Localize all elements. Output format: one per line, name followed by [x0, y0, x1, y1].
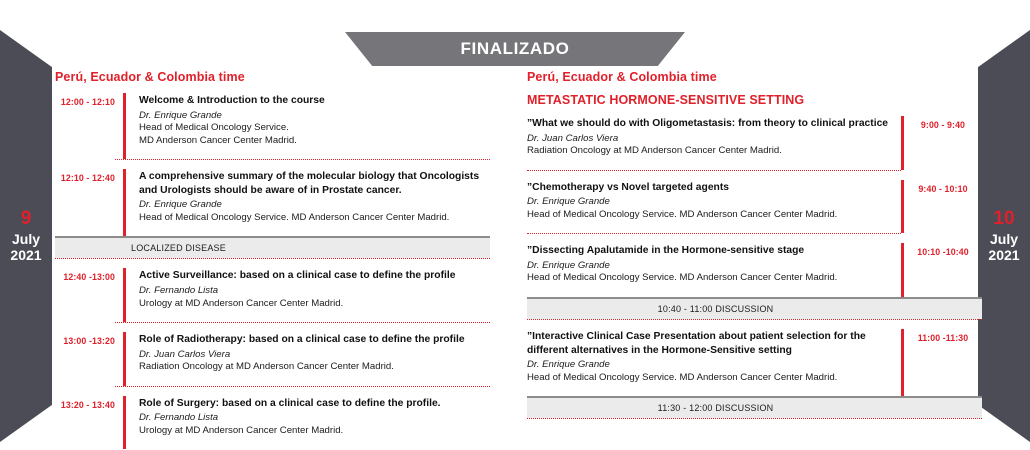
session-speaker: Dr. Enrique Grande [527, 359, 889, 371]
date-month: July [990, 231, 1018, 248]
session-rule [123, 396, 126, 450]
session-title: A comprehensive summary of the molecular… [139, 170, 490, 197]
session-affiliation: Radiation Oncology at MD Anderson Cancer… [139, 361, 490, 373]
session-body: ”What we should do with Oligometastasis:… [527, 116, 889, 170]
date-day: 9 [21, 208, 32, 230]
session-body: Welcome & Introduction to the course Dr.… [139, 93, 490, 159]
session-body: ”Dissecting Apalutamide in the Hormone-s… [527, 243, 889, 297]
session-row: ”Interactive Clinical Case Presentation … [527, 320, 982, 396]
session-title: ”Dissecting Apalutamide in the Hormone-s… [527, 244, 889, 258]
session-time: 12:40 -13:00 [55, 268, 123, 322]
session-speaker: Dr. Fernando Lista [139, 412, 490, 424]
session-row: 12:00 - 12:10 Welcome & Introduction to … [55, 93, 490, 159]
date-year: 2021 [988, 247, 1019, 264]
session-time: 9:40 - 10:10 [904, 180, 982, 234]
date-year: 2021 [10, 247, 41, 264]
agenda-column-day-9: Perú, Ecuador & Colombia time 12:00 - 12… [55, 70, 490, 449]
session-title: ”Interactive Clinical Case Presentation … [527, 330, 889, 357]
session-affiliation: MD Anderson Cancer Center Madrid. [139, 135, 490, 147]
session-row: ”What we should do with Oligometastasis:… [527, 116, 982, 170]
session-rule [123, 169, 126, 236]
session-row: 13:00 -13:20 Role of Radiotherapy: based… [55, 323, 490, 386]
session-title: Welcome & Introduction to the course [139, 94, 490, 108]
session-time: 12:10 - 12:40 [55, 169, 123, 236]
session-row: 12:10 - 12:40 A comprehensive summary of… [55, 160, 490, 236]
session-title: Active Surveillance: based on a clinical… [139, 269, 490, 283]
session-rule [123, 268, 126, 322]
session-speaker: Dr. Juan Carlos Viera [527, 133, 889, 145]
discussion-band-label: 10:40 - 11:00 DISCUSSION [527, 304, 982, 314]
session-affiliation: Urology at MD Anderson Cancer Center Mad… [139, 298, 490, 310]
session-body: Active Surveillance: based on a clinical… [139, 268, 490, 322]
session-affiliation: Head of Medical Oncology Service. MD And… [139, 212, 490, 224]
session-speaker: Dr. Enrique Grande [139, 199, 490, 211]
session-affiliation: Head of Medical Oncology Service. MD And… [527, 372, 889, 384]
session-rule [123, 332, 126, 386]
session-body: ”Chemotherapy vs Novel targeted agents D… [527, 180, 889, 234]
session-affiliation: Head of Medical Oncology Service. MD And… [527, 209, 889, 221]
status-banner: FINALIZADO [345, 32, 685, 66]
session-time: 13:20 - 13:40 [55, 396, 123, 450]
session-affiliation: Head of Medical Oncology Service. MD And… [527, 272, 889, 284]
session-speaker: Dr. Fernando Lista [139, 285, 490, 297]
agenda-column-day-10: Perú, Ecuador & Colombia time METASTATIC… [527, 70, 982, 419]
session-body: Role of Radiotherapy: based on a clinica… [139, 332, 490, 386]
session-time: 11:00 -11:30 [904, 329, 982, 396]
session-rule [123, 93, 126, 159]
date-day: 10 [993, 208, 1014, 230]
discussion-band: 11:30 - 12:00 DISCUSSION [527, 396, 982, 418]
session-speaker: Dr. Enrique Grande [139, 110, 490, 122]
section-band-localized-disease: LOCALIZED DISEASE [55, 236, 490, 258]
session-row: 13:20 - 13:40 Role of Surgery: based on … [55, 387, 490, 450]
session-separator [527, 418, 982, 419]
session-speaker: Dr. Juan Carlos Viera [139, 349, 490, 361]
timezone-heading: Perú, Ecuador & Colombia time [527, 70, 982, 84]
session-body: A comprehensive summary of the molecular… [139, 169, 490, 236]
session-time: 10:10 -10:40 [904, 243, 982, 297]
session-title: Role of Radiotherapy: based on a clinica… [139, 333, 490, 347]
session-time: 9:00 - 9:40 [904, 116, 982, 170]
session-body: Role of Surgery: based on a clinical cas… [139, 396, 490, 450]
session-title: ”What we should do with Oligometastasis:… [527, 117, 889, 131]
date-plate-right: 10 July 2021 [978, 30, 1030, 442]
session-time: 12:00 - 12:10 [55, 93, 123, 159]
session-affiliation: Radiation Oncology at MD Anderson Cancer… [527, 145, 889, 157]
timezone-heading: Perú, Ecuador & Colombia time [55, 70, 490, 84]
discussion-band: 10:40 - 11:00 DISCUSSION [527, 297, 982, 319]
session-row: 12:40 -13:00 Active Surveillance: based … [55, 259, 490, 322]
session-time: 13:00 -13:20 [55, 332, 123, 386]
session-affiliation: Head of Medical Oncology Service. [139, 122, 490, 134]
session-speaker: Dr. Enrique Grande [527, 196, 889, 208]
session-speaker: Dr. Enrique Grande [527, 260, 889, 272]
session-title: ”Chemotherapy vs Novel targeted agents [527, 181, 889, 195]
date-plate-left: 9 July 2021 [0, 30, 52, 442]
session-row: ”Dissecting Apalutamide in the Hormone-s… [527, 234, 982, 297]
session-title: Role of Surgery: based on a clinical cas… [139, 397, 490, 411]
session-body: ”Interactive Clinical Case Presentation … [527, 329, 889, 396]
section-band-label: LOCALIZED DISEASE [55, 243, 226, 253]
discussion-band-label: 11:30 - 12:00 DISCUSSION [527, 403, 982, 413]
date-month: July [12, 231, 40, 248]
session-row: ”Chemotherapy vs Novel targeted agents D… [527, 171, 982, 234]
session-affiliation: Urology at MD Anderson Cancer Center Mad… [139, 425, 490, 437]
section-heading: METASTATIC HORMONE-SENSITIVE SETTING [527, 93, 982, 107]
